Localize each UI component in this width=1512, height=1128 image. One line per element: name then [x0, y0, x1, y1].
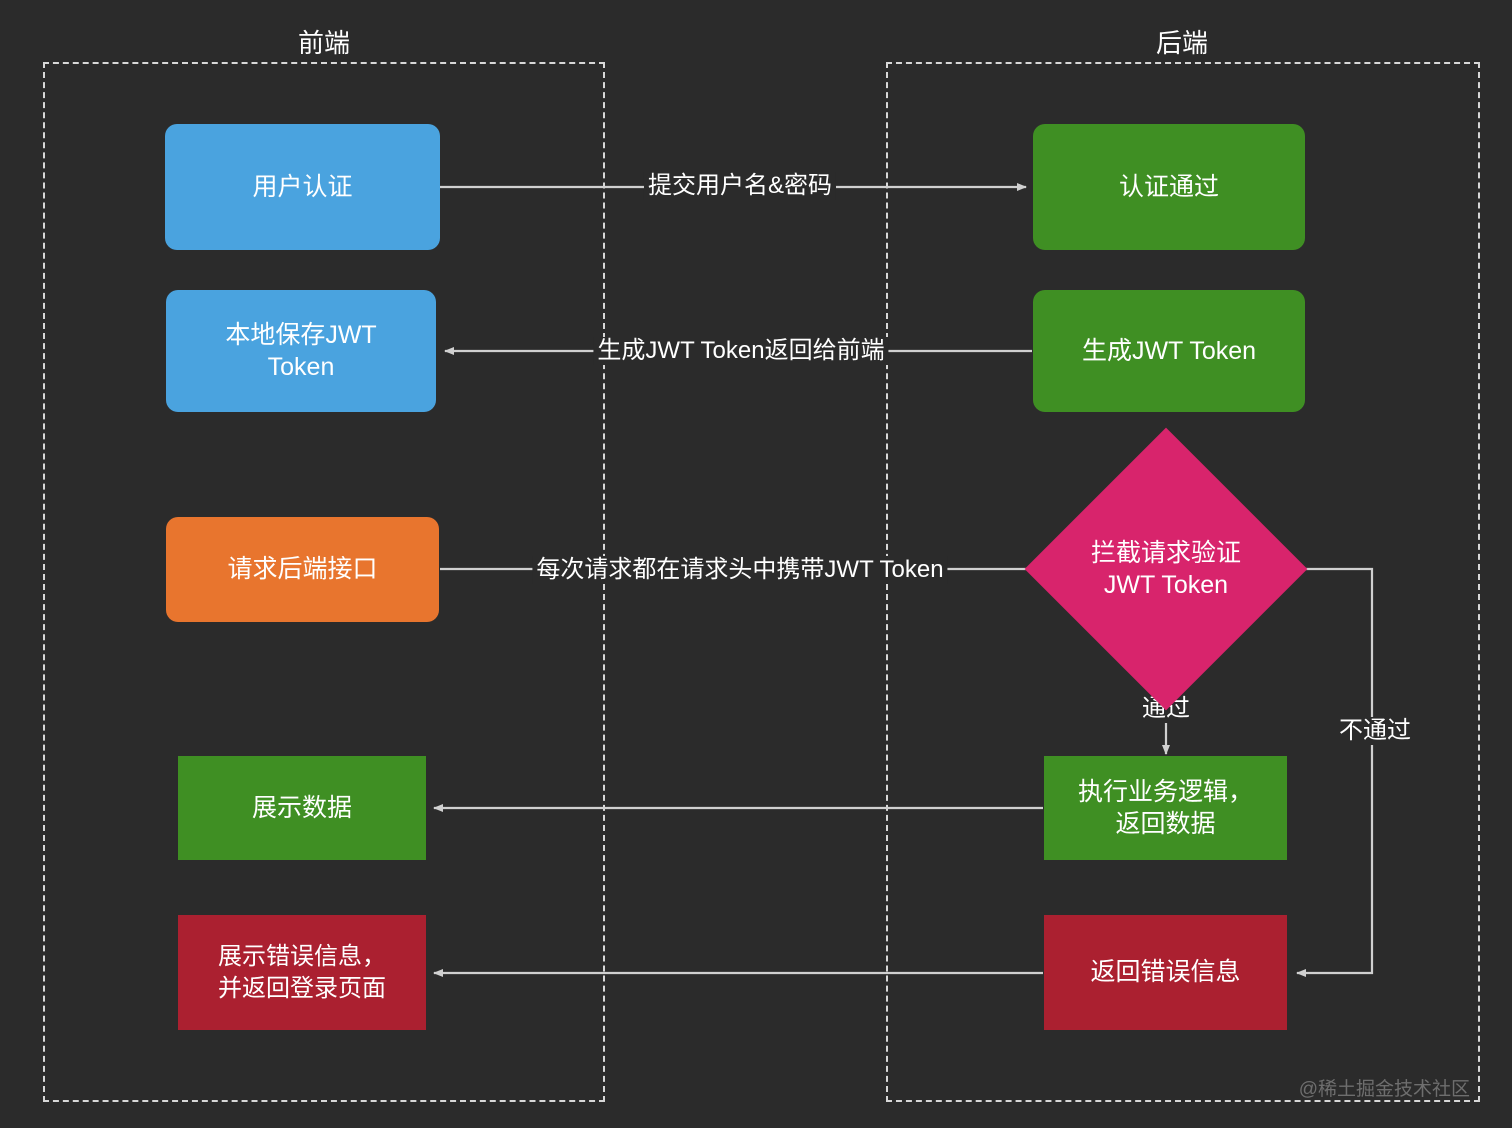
diamond-shape	[1025, 428, 1308, 711]
edge-label-carry-jwt: 每次请求都在请求头中携带JWT Token	[532, 556, 947, 584]
edge-label-return-jwt: 生成JWT Token返回给前端	[593, 337, 888, 365]
node-label-show-error: 展示错误信息， 并返回登录页面	[218, 941, 386, 1003]
node-verify-jwt[interactable]: 拦截请求验证 JWT Token	[1066, 469, 1266, 669]
node-label-user-auth: 用户认证	[252, 171, 352, 204]
lane-title-frontend: 前端	[298, 30, 350, 56]
watermark: @稀土掘金技术社区	[1299, 1074, 1470, 1101]
node-label-show-data: 展示数据	[252, 792, 352, 825]
node-label-generate-jwt: 生成JWT Token	[1082, 335, 1256, 368]
node-show-error[interactable]: 展示错误信息， 并返回登录页面	[178, 915, 426, 1030]
node-business-logic[interactable]: 执行业务逻辑， 返回数据	[1044, 756, 1287, 860]
node-user-auth[interactable]: 用户认证	[165, 124, 440, 250]
node-label-save-jwt-local: 本地保存JWT Token	[225, 319, 376, 384]
edge-label-verify-fail: 不通过	[1335, 717, 1415, 745]
flowchart-canvas: 前端 后端 提交用户名&密码 生成JWT Token返回给	[0, 0, 1512, 1128]
node-show-data[interactable]: 展示数据	[178, 756, 426, 860]
node-label-request-backend: 请求后端接口	[227, 553, 377, 586]
node-save-jwt-local[interactable]: 本地保存JWT Token	[166, 290, 436, 412]
node-label-auth-pass: 认证通过	[1119, 171, 1219, 204]
node-label-business-logic: 执行业务逻辑， 返回数据	[1078, 776, 1253, 841]
node-return-error[interactable]: 返回错误信息	[1044, 915, 1287, 1030]
node-label-return-error: 返回错误信息	[1090, 956, 1240, 989]
edge-label-submit-credentials: 提交用户名&密码	[644, 172, 836, 200]
node-generate-jwt[interactable]: 生成JWT Token	[1033, 290, 1305, 412]
lane-title-backend: 后端	[1156, 30, 1208, 56]
node-request-backend[interactable]: 请求后端接口	[166, 517, 439, 622]
node-auth-pass[interactable]: 认证通过	[1033, 124, 1305, 250]
